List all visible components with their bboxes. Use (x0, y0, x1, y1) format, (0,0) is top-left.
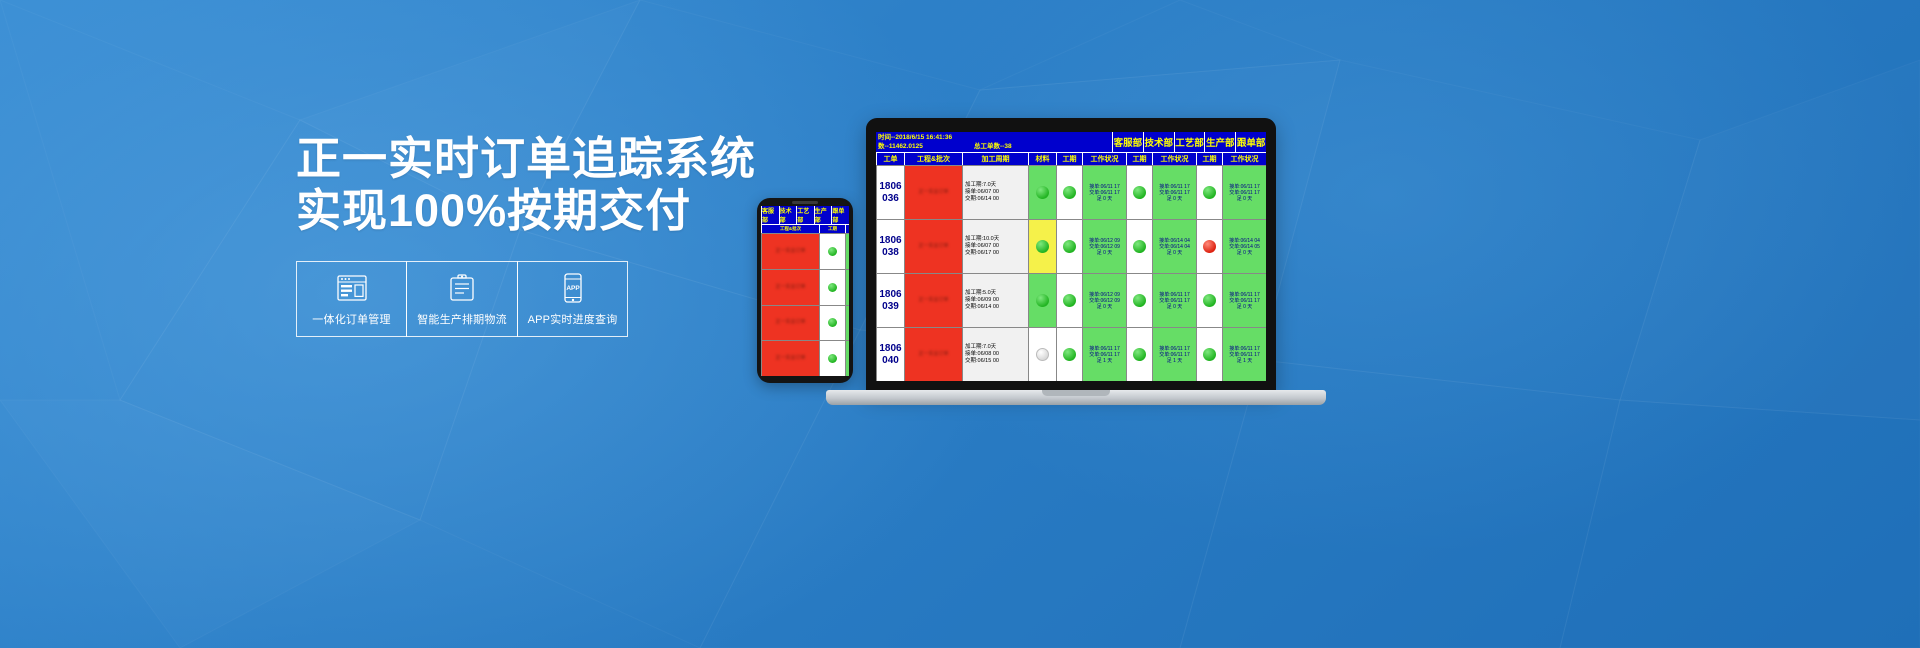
duration-status-indicator (1203, 294, 1216, 307)
cell-work-status-1: 接单:06/11 17交单:06/11 17足 1 天 (1152, 328, 1196, 381)
dashboard-meta: 时间--2018/6/15 16:41:36 数--11462.0125 总工单… (876, 132, 1112, 152)
cycle-line-0: 加工期:7.0天 (965, 344, 996, 351)
status-duration: 足 0 天 (1167, 196, 1183, 202)
cycle-line-2: 交期:06/15 00 (965, 358, 999, 365)
duration-status-indicator (1063, 294, 1076, 307)
headline-line-1: 正一实时订单追踪系统 (296, 133, 756, 184)
svg-text:APP: APP (566, 285, 580, 292)
dashboard-layout-icon (337, 272, 367, 304)
duration-status-indicator (1203, 240, 1216, 253)
meta-row-2: 数--11462.0125 总工单数--38 (878, 142, 1110, 151)
department-header-4: 跟单部 (1235, 132, 1266, 152)
cell-material (1028, 166, 1056, 219)
cell-duration-0 (1056, 328, 1082, 381)
cell-process-cycle: 加工期:5.0天接单:06/09 00交期:06/14 00 (962, 274, 1028, 327)
project-name: 正一实业订单 (762, 248, 819, 255)
cycle-line-2: 交期:06/14 00 (965, 304, 999, 311)
department-header-row: 客服部技术部工艺部生产部跟单部 (1112, 132, 1266, 152)
duration-status-indicator (1063, 240, 1076, 253)
table-row[interactable]: 1806036正一实业订单加工期:7.0天接单:06/07 00交期:06/14… (876, 165, 1266, 219)
column-header-material: 材料 (1028, 152, 1056, 165)
cycle-line-1: 接单:06/09 00 (965, 297, 999, 304)
work-order-bottom: 039 (882, 301, 899, 313)
cell-project-batch: 正一实业订单 (761, 306, 819, 341)
cell-work-status-2: 接单:06/11 17交单:06/11 17足 0 天 (1222, 166, 1266, 219)
cell-duration-1 (1126, 220, 1152, 273)
cell-work-status-0: 接单:06/11 17交单:06/11 17足 0 天 (1082, 166, 1126, 219)
cell-process-cycle: 加工期:7.0天接单:06/08 00交期:06/15 00 (962, 328, 1028, 381)
duration-status-indicator (1133, 240, 1146, 253)
column-header-work-order: 工单 (876, 152, 904, 165)
material-status-indicator (1036, 294, 1049, 307)
laptop-mockup: 时间--2018/6/15 16:41:36 数--11462.0125 总工单… (826, 118, 1326, 418)
laptop-screen: 时间--2018/6/15 16:41:36 数--11462.0125 总工单… (876, 132, 1266, 381)
cell-duration-1 (1126, 274, 1152, 327)
table-row[interactable]: 1806039正一实业订单加工期:5.0天接单:06/09 00交期:06/14… (876, 273, 1266, 327)
cell-duration-0 (1056, 166, 1082, 219)
clipboard-icon (449, 272, 475, 304)
cycle-line-1: 接单:06/07 00 (965, 189, 999, 196)
hero-copy: 正一实时订单追踪系统 实现100%按期交付 一体化订单管理 (296, 133, 716, 337)
work-order-bottom: 036 (882, 193, 899, 205)
column-header-duration-2: 工期 (1196, 152, 1222, 165)
meta-total-orders: 总工单数--38 (974, 142, 1012, 151)
duration-status-indicator (1063, 348, 1076, 361)
status-duration: 足 0 天 (1167, 304, 1183, 310)
column-header-work-status-1: 工作状况 (1152, 152, 1196, 165)
department-header-0: 客服部 (1112, 132, 1143, 152)
duration-status-indicator (1203, 186, 1216, 199)
column-header-project-batch: 工程&批次 (904, 152, 962, 165)
cell-project-batch: 正一实业订单 (761, 234, 819, 269)
work-order-bottom: 040 (882, 355, 899, 367)
status-duration: 足 1 天 (1167, 358, 1183, 364)
cell-duration-2 (1196, 166, 1222, 219)
feature-label: 一体化订单管理 (312, 311, 390, 327)
status-duration: 足 0 天 (1097, 304, 1113, 310)
column-header-duration-1: 工期 (1126, 152, 1152, 165)
material-status-indicator (1036, 240, 1049, 253)
cell-work-status-2: 接单:06/11 17交单:06/11 17足 1 天 (1222, 328, 1266, 381)
cell-project-batch: 正一实业订单 (904, 220, 962, 273)
dashboard-rows: 1806036正一实业订单加工期:7.0天接单:06/07 00交期:06/14… (876, 165, 1266, 381)
cell-process-cycle: 加工期:10.0天接单:06/07 00交期:06/17 00 (962, 220, 1028, 273)
table-row[interactable]: 1806038正一实业订单加工期:10.0天接单:06/07 00交期:06/1… (876, 219, 1266, 273)
project-name: 正一实业订单 (762, 355, 819, 362)
table-row[interactable]: 1806040正一实业订单加工期:7.0天接单:06/08 00交期:06/15… (876, 327, 1266, 381)
status-duration: 足 0 天 (1167, 250, 1183, 256)
meta-time: 时间--2018/6/15 16:41:36 (878, 133, 1110, 142)
cell-work-status-1: 接单:06/14 04交单:06/14 04足 0 天 (1152, 220, 1196, 273)
department-header-1: 技术部 (779, 206, 797, 224)
cell-project-batch: 正一实业订单 (761, 341, 819, 376)
cell-work-status-1: 接单:06/11 17交单:06/11 17足 0 天 (1152, 274, 1196, 327)
feature-card-app-progress-query[interactable]: APP APP实时进度查询 (517, 261, 628, 337)
project-name: 正一实业订单 (762, 284, 819, 291)
cell-duration-0 (1056, 274, 1082, 327)
column-header-row: 工单工程&批次加工周期材料工期工作状况工期工作状况工期工作状况工期工作状况工期工… (876, 152, 1266, 165)
laptop-base-notch (1042, 390, 1110, 396)
cell-duration-2 (1196, 220, 1222, 273)
cell-work-status-0: 接单:06/12 09交单:06/12 09足 0 天 (1082, 274, 1126, 327)
status-duration: 足 0 天 (1237, 250, 1253, 256)
cycle-line-1: 接单:06/08 00 (965, 351, 999, 358)
department-header-0: 客服部 (761, 206, 779, 224)
department-header-1: 技术部 (1143, 132, 1174, 152)
cell-duration-1 (1126, 328, 1152, 381)
status-duration: 足 1 天 (1237, 358, 1253, 364)
material-status-indicator (1036, 186, 1049, 199)
project-name: 正一实业订单 (762, 319, 819, 326)
cell-work-status-0: 接单:06/12 09交单:06/12 09足 0 天 (1082, 220, 1126, 273)
project-name: 正一实业订单 (905, 351, 962, 358)
department-header-2: 工艺部 (1174, 132, 1205, 152)
feature-card-order-management[interactable]: 一体化订单管理 (296, 261, 407, 337)
feature-label: 智能生产排期物流 (417, 311, 507, 327)
column-header-work-status-2: 工作状况 (1222, 152, 1266, 165)
column-header-project-batch: 工程&批次 (761, 224, 819, 233)
cell-work-order: 1806038 (876, 220, 904, 273)
feature-card-production-scheduling[interactable]: 智能生产排期物流 (406, 261, 518, 337)
cycle-line-1: 接单:06/07 00 (965, 243, 999, 250)
department-header-2: 工艺部 (796, 206, 814, 224)
cell-duration-2 (1196, 328, 1222, 381)
laptop-lid: 时间--2018/6/15 16:41:36 数--11462.0125 总工单… (866, 118, 1276, 393)
dashboard-header: 时间--2018/6/15 16:41:36 数--11462.0125 总工单… (876, 132, 1266, 152)
page-title: 正一实时订单追踪系统 实现100%按期交付 (296, 133, 716, 237)
cell-process-cycle: 加工期:7.0天接单:06/07 00交期:06/14 00 (962, 166, 1028, 219)
work-order-top: 1806 (879, 235, 901, 247)
column-header-duration-0: 工期 (1056, 152, 1082, 165)
meta-number: 数--11462.0125 (878, 142, 974, 151)
duration-status-indicator (1203, 348, 1216, 361)
project-name: 正一实业订单 (905, 297, 962, 304)
status-duration: 足 0 天 (1097, 250, 1113, 256)
cycle-line-0: 加工期:10.0天 (965, 236, 999, 243)
mobile-app-icon: APP (562, 272, 584, 304)
column-header-work-status-0: 工作状况 (1082, 152, 1126, 165)
cell-duration-0 (1056, 220, 1082, 273)
cell-work-status-1: 接单:06/11 17交单:06/11 17足 0 天 (1152, 166, 1196, 219)
cell-work-status-2: 接单:06/14 04交单:06/14 05足 0 天 (1222, 220, 1266, 273)
work-order-top: 1806 (879, 343, 901, 355)
cycle-line-2: 交期:06/14 00 (965, 196, 999, 203)
cycle-line-0: 加工期:5.0天 (965, 290, 996, 297)
status-duration: 足 0 天 (1237, 196, 1253, 202)
status-duration: 足 0 天 (1097, 196, 1113, 202)
phone-speaker-bar (792, 201, 818, 204)
status-duration: 足 0 天 (1237, 304, 1253, 310)
project-name: 正一实业订单 (905, 189, 962, 196)
cell-work-order: 1806040 (876, 328, 904, 381)
cell-project-batch: 正一实业订单 (761, 270, 819, 305)
cell-project-batch: 正一实业订单 (904, 328, 962, 381)
duration-status-indicator (1133, 294, 1146, 307)
work-order-top: 1806 (879, 289, 901, 301)
cell-project-batch: 正一实业订单 (904, 274, 962, 327)
cell-duration-1 (1126, 166, 1152, 219)
project-name: 正一实业订单 (905, 243, 962, 250)
column-header-process-cycle: 加工周期 (962, 152, 1028, 165)
headline-line-2: 实现100%按期交付 (296, 185, 716, 237)
cell-duration-2 (1196, 274, 1222, 327)
cell-material (1028, 328, 1056, 381)
work-order-bottom: 038 (882, 247, 899, 259)
duration-status-indicator (1133, 348, 1146, 361)
cell-work-status-0: 接单:06/11 17交单:06/11 17足 1 天 (1082, 328, 1126, 381)
cell-project-batch: 正一实业订单 (904, 166, 962, 219)
work-order-top: 1806 (879, 181, 901, 193)
cell-work-order: 1806039 (876, 274, 904, 327)
cell-work-status-2: 接单:06/11 17交单:06/11 17足 0 天 (1222, 274, 1266, 327)
cell-work-order: 1806036 (876, 166, 904, 219)
status-duration: 足 1 天 (1097, 358, 1113, 364)
material-status-indicator (1036, 348, 1049, 361)
cell-material (1028, 274, 1056, 327)
department-header-3: 生产部 (1204, 132, 1235, 152)
feature-label: APP实时进度查询 (528, 311, 618, 327)
cycle-line-0: 加工期:7.0天 (965, 182, 996, 189)
duration-status-indicator (1133, 186, 1146, 199)
cycle-line-2: 交期:06/17 00 (965, 250, 999, 257)
feature-list: 一体化订单管理 智能生产排期物流 (296, 261, 716, 337)
duration-status-indicator (1063, 186, 1076, 199)
cell-material (1028, 220, 1056, 273)
laptop-dashboard: 时间--2018/6/15 16:41:36 数--11462.0125 总工单… (876, 132, 1266, 381)
